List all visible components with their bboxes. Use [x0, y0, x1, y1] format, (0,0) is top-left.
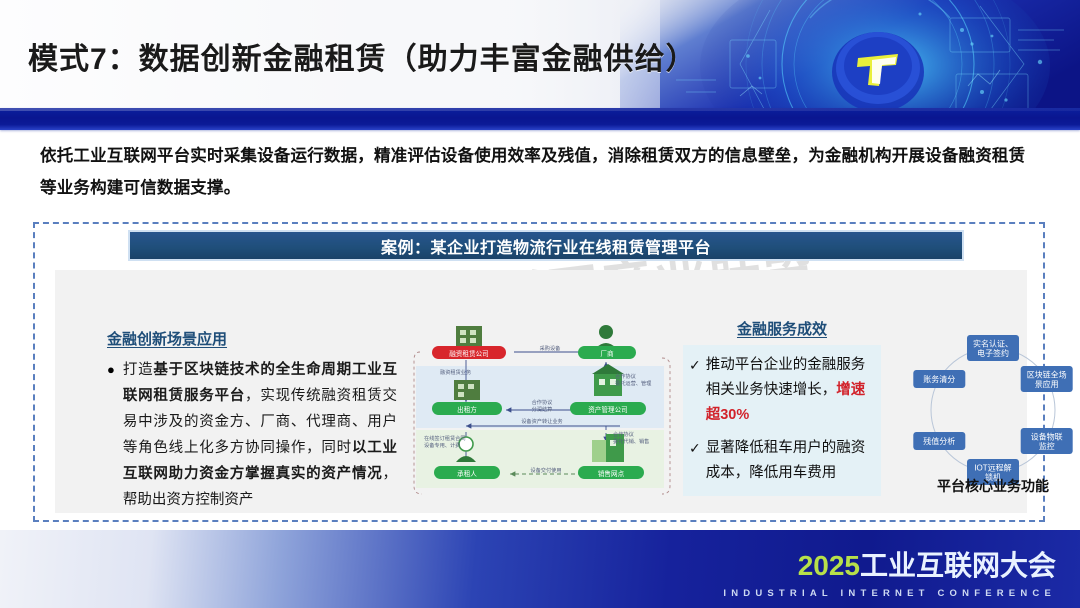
svg-text:销售网点: 销售网点 [598, 469, 625, 478]
left-bullet-text: 打造基于区块链技术的全生命周期工业互联网租赁服务平台，实现传统融资租赁交易中涉及… [123, 357, 397, 513]
circle-node[interactable]: 区块链全场景应用 [1021, 366, 1073, 392]
conference-name-cn: 工业互联网大会 [860, 550, 1056, 581]
leasing-flow-diagram: 融资租赁公司 厂商 出租方 资产管理公司 [410, 322, 675, 502]
flow-edge-label: 在线签订租赁合同 [424, 434, 466, 442]
circle-node[interactable]: 残值分析 [913, 432, 965, 450]
circle-diagram-caption: 平台核心业务功能 [893, 476, 1080, 496]
result-plain: 显著降低租车用户的融资成本，降低用车费用 [706, 440, 866, 481]
flow-icon-house-1 [456, 326, 482, 346]
flow-node-5: 承租人 [434, 466, 500, 479]
flow-edge-label: 合作协议 [615, 372, 637, 380]
result-text: 显著降低租车用户的融资成本，降低用车费用 [706, 436, 873, 486]
svg-text:承租人: 承租人 [457, 469, 477, 478]
financial-innovation-column: 金融创新场景应用 ● 打造基于区块链技术的全生命周期工业互联网租赁服务平台，实现… [107, 328, 397, 513]
left-column-heading: 金融创新场景应用 [107, 328, 397, 349]
case-banner: 案例：某企业打造物流行业在线租赁管理平台 [128, 230, 964, 261]
flow-icon-house-2 [454, 380, 480, 400]
check-icon: ✓ [689, 436, 701, 486]
slide-footer: 2025工业互联网大会 INDUSTRIAL INTERNET CONFEREN… [0, 530, 1080, 608]
conference-year: 2025 [798, 550, 860, 581]
case-inner-panel: 金融创新场景应用 ● 打造基于区块链技术的全生命周期工业互联网租赁服务平台，实现… [55, 270, 1027, 513]
header-accent-bar-highlight [0, 108, 1080, 111]
service-results-column: 金融服务成效 ✓推动平台企业的金融服务相关业务快速增长，增速超30%✓显著降低租… [683, 318, 881, 496]
result-text: 推动平台企业的金融服务相关业务快速增长，增速超30% [706, 353, 873, 428]
flow-edge-label: 合作协议 [613, 430, 635, 438]
flow-node-4: 资产管理公司 [570, 402, 646, 415]
flow-node-1: 融资租赁公司 [432, 346, 506, 359]
circle-node[interactable]: 设备物联监控 [1021, 428, 1073, 454]
mid-results-box: ✓推动平台企业的金融服务相关业务快速增长，增速超30%✓显著降低租车用户的融资成… [683, 345, 881, 496]
svg-text:资产管理公司: 资产管理公司 [588, 405, 628, 414]
flow-edge-label: 融资租赁业务 [440, 368, 471, 376]
flow-edge-label: 合作协议 [532, 398, 554, 406]
flow-edge-label: 委托运营、管理 [615, 379, 652, 387]
flow-edge-label: 委托代销、销售 [613, 437, 649, 445]
svg-text:融资租赁公司: 融资租赁公司 [449, 349, 489, 358]
bullet-plain: 打造 [123, 362, 154, 378]
lead-paragraph: 依托工业互联网平台实时采集设备运行数据，精准评估设备使用效率及残值，消除租赁双方… [40, 140, 1040, 204]
flow-edge-label: 分润结算 [532, 405, 553, 413]
bullet-marker-icon: ● [107, 357, 115, 513]
flow-node-2: 厂商 [578, 346, 636, 359]
flow-icon-person-1 [596, 325, 616, 348]
svg-text:厂商: 厂商 [600, 349, 614, 358]
circle-node[interactable]: 账务清分 [913, 370, 965, 388]
circle-node[interactable]: 实名认证、电子签约 [967, 335, 1019, 361]
list-item: ✓显著降低租车用户的融资成本，降低用车费用 [689, 436, 873, 486]
conference-logo: 2025工业互联网大会 INDUSTRIAL INTERNET CONFEREN… [723, 544, 1056, 599]
flow-node-6: 销售网点 [578, 466, 644, 479]
flow-edge-label: 设备专用、计费 [424, 441, 460, 449]
case-card: 工业互联网产业联盟 Alliance of Industrial Interne… [33, 222, 1045, 522]
list-item: ✓推动平台企业的金融服务相关业务快速增长，增速超30% [689, 353, 873, 428]
flow-edge-label: 设备交付使用 [530, 466, 561, 474]
circle-node-label: 账务清分 [923, 374, 955, 384]
slide-root: 模式7：数据创新金融租赁（助力丰富金融供给） 依托工业互联网平台实时采集设备运行… [0, 0, 1080, 608]
flow-edge-label: 采购设备 [540, 344, 562, 352]
flow-node-3: 出租方 [432, 402, 502, 415]
svg-text:出租方: 出租方 [457, 405, 477, 414]
check-icon: ✓ [689, 353, 701, 428]
list-item: ● 打造基于区块链技术的全生命周期工业互联网租赁服务平台，实现传统融资租赁交易中… [107, 357, 397, 513]
mid-column-heading: 金融服务成效 [683, 318, 881, 339]
conference-name-en: INDUSTRIAL INTERNET CONFERENCE [723, 588, 1056, 599]
flow-edge-label: 设备资产转让业务 [521, 417, 563, 425]
header-accent-bar [0, 108, 1080, 130]
circle-node-label: 残值分析 [923, 436, 955, 446]
page-title: 模式7：数据创新金融租赁（助力丰富金融供给） [28, 34, 697, 78]
circle-node-label: 实名认证、电子签约 [973, 339, 1013, 359]
slide-header: 模式7：数据创新金融租赁（助力丰富金融供给） [0, 0, 1080, 108]
case-banner-label: 案例：某企业打造物流行业在线租赁管理平台 [381, 234, 711, 258]
